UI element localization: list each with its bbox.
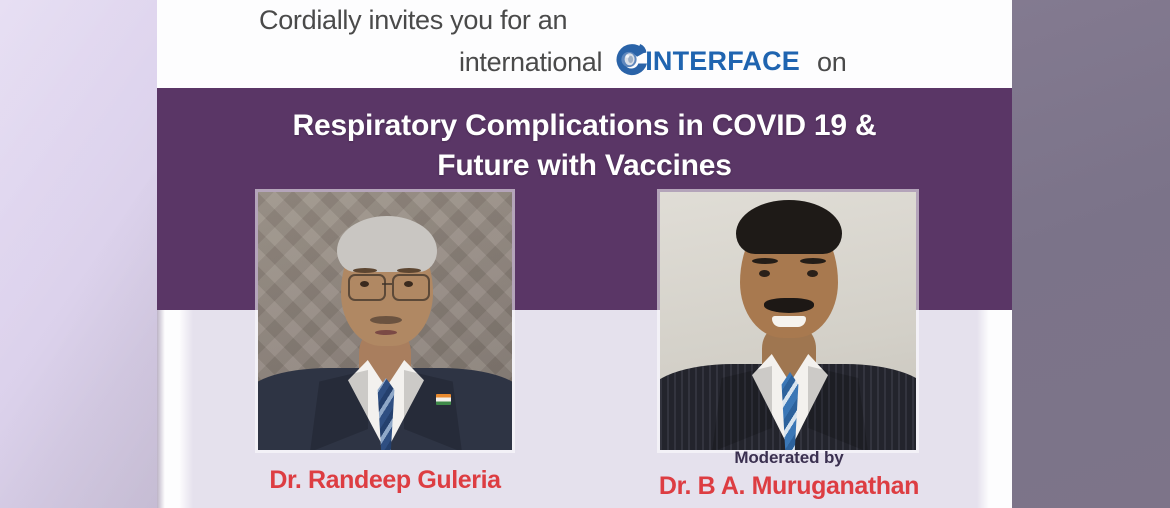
photo-right-brow-left (752, 258, 778, 264)
photo-right-eye-right (807, 270, 818, 277)
panel-edge-left (157, 310, 193, 508)
speaker-name-left: Dr. Randeep Guleria (227, 466, 543, 495)
video-backdrop-right (1012, 0, 1170, 508)
event-title-line-1: Respiratory Complications in COVID 19 & (157, 106, 1012, 146)
photo-left-brow-left (353, 268, 377, 273)
photo-left-glasses-icon-2 (392, 274, 430, 301)
photo-left-eye-left (360, 281, 369, 287)
invite-line-2-suffix: on (817, 47, 846, 78)
speaker-caption-left: Dr. Randeep Guleria (227, 466, 543, 495)
speaker-name-right: Dr. B A. Muruganathan (629, 472, 949, 501)
photo-left-eye-right (404, 281, 413, 287)
invite-line-2-prefix: international (459, 47, 602, 78)
photo-left-glasses-bridge (382, 283, 392, 285)
photo-right-moustache (764, 298, 814, 313)
moderator-role-label: Moderated by (629, 448, 949, 468)
event-poster: Cordially invites you for an internation… (157, 0, 1012, 508)
event-title: Respiratory Complications in COVID 19 & … (157, 106, 1012, 186)
interface-wordmark: INTERFACE (645, 46, 800, 77)
speaker-caption-right: Moderated by Dr. B A. Muruganathan (629, 448, 949, 501)
photo-left-mouth (375, 330, 397, 335)
photo-right-brow-right (800, 258, 826, 264)
screenshot-stage: Cordially invites you for an internation… (0, 0, 1170, 508)
invite-line-1: Cordially invites you for an (259, 5, 567, 36)
photo-left-lapel-pin-icon (436, 394, 451, 405)
photo-right-eye-left (759, 270, 770, 277)
poster-header: Cordially invites you for an internation… (157, 0, 1012, 88)
invite-line-2: international INTERFACE (459, 40, 846, 84)
speaker-photo-right (660, 192, 916, 450)
photo-right-teeth (772, 316, 806, 327)
photo-left-brow-right (397, 268, 421, 273)
interface-brand-lockup: INTERFACE (610, 39, 800, 83)
speaker-photo-left (258, 192, 512, 450)
interface-spiral-logo-icon (610, 39, 654, 83)
photo-left-glasses-icon (348, 274, 386, 301)
event-title-line-2: Future with Vaccines (157, 146, 1012, 186)
panel-edge-right (977, 310, 1012, 508)
photo-left-moustache (370, 316, 402, 324)
